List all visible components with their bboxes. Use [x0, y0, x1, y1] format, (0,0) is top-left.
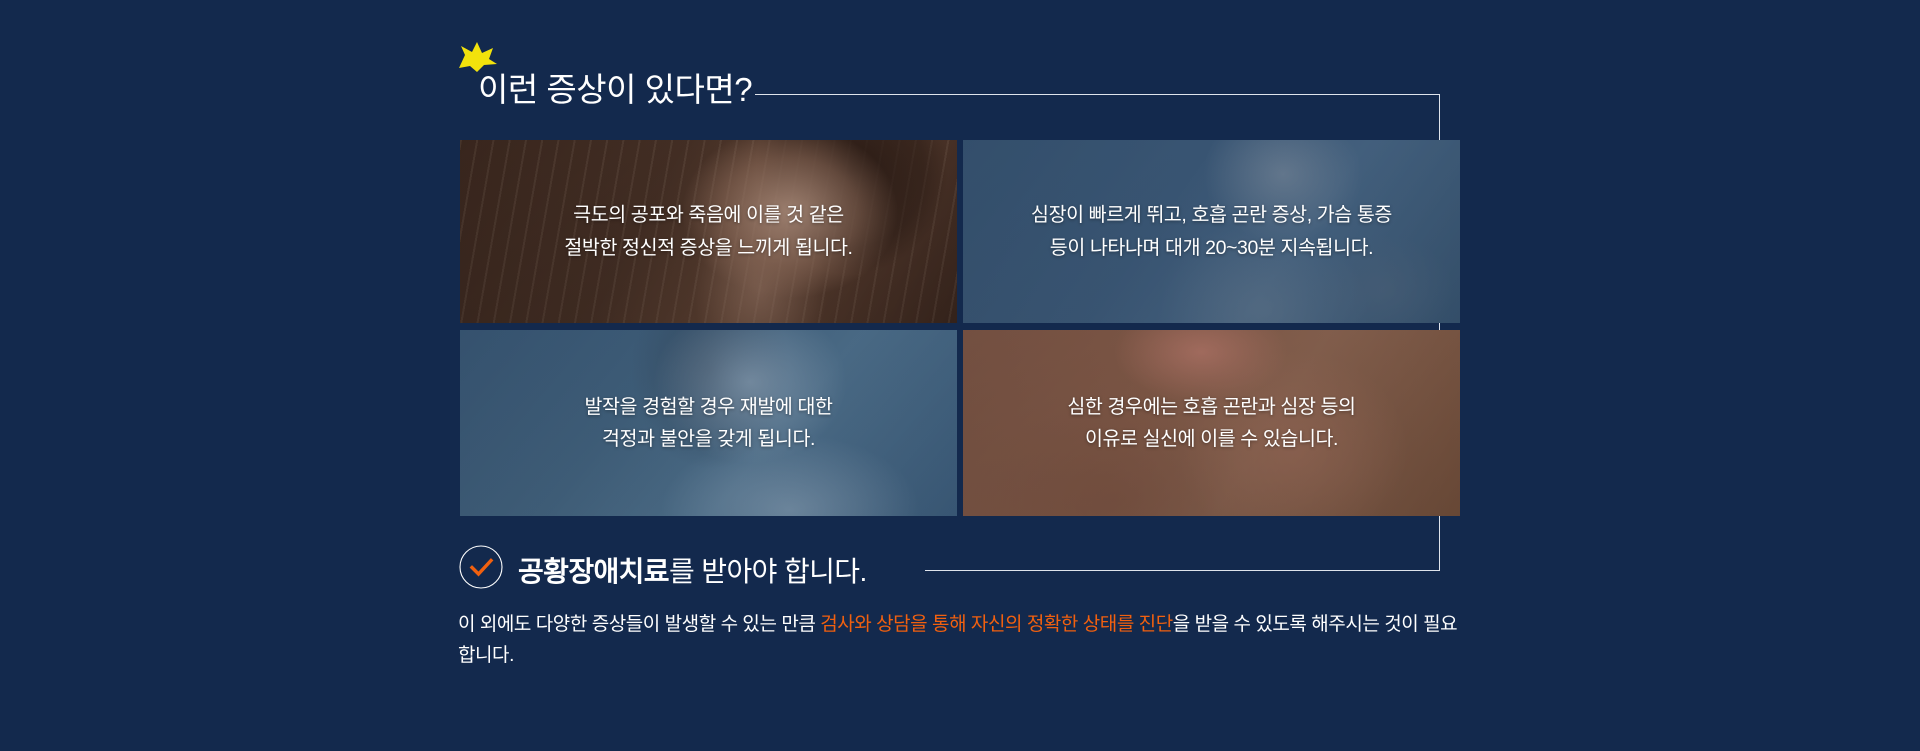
symptom-card-extreme-fear[interactable]: 극도의 공포와 죽음에 이를 것 같은 절박한 정신적 증상을 느끼게 됩니다.: [460, 140, 957, 323]
symptom-card-fainting[interactable]: 심한 경우에는 호흡 곤란과 심장 등의 이유로 실신에 이를 수 있습니다.: [963, 330, 1460, 516]
bracket-line-top: [755, 94, 1440, 95]
symptom-card-palpitations[interactable]: 심장이 빠르게 뛰고, 호흡 곤란 증상, 가슴 통증 등이 나타나며 대개 2…: [963, 140, 1460, 323]
check-circle-icon: [459, 545, 503, 589]
symptom-card-caption: 극도의 공포와 죽음에 이를 것 같은 절박한 정신적 증상을 느끼게 됩니다.: [564, 199, 852, 263]
promo-banner: 이런 증상이 있다면? 극도의 공포와 죽음에 이를 것 같은 절박한 정신적 …: [0, 0, 1920, 751]
symptom-card-caption: 심한 경우에는 호흡 곤란과 심장 등의 이유로 실신에 이를 수 있습니다.: [1067, 391, 1355, 455]
symptom-card-caption: 발작을 경험할 경우 재발에 대한 걱정과 불안을 갖게 됩니다.: [584, 391, 832, 455]
symptom-card-relapse-anxiety[interactable]: 발작을 경험할 경우 재발에 대한 걱정과 불안을 갖게 됩니다.: [460, 330, 957, 516]
conclusion-title-strong: 공황장애치료: [518, 556, 669, 587]
conclusion-title-rest: 를 받아야 합니다.: [669, 556, 867, 587]
body-lead: 이 외에도 다양한 증상들이 발생할 수 있는 만큼: [458, 614, 820, 635]
page-title: 이런 증상이 있다면?: [478, 63, 752, 111]
symptom-card-grid: 극도의 공포와 죽음에 이를 것 같은 절박한 정신적 증상을 느끼게 됩니다.…: [460, 140, 1460, 516]
conclusion-body: 이 외에도 다양한 증상들이 발생할 수 있는 만큼 검사와 상담을 통해 자신…: [458, 610, 1468, 672]
conclusion-title: 공황장애치료를 받아야 합니다.: [518, 550, 867, 590]
body-highlight: 검사와 상담을 통해 자신의 정확한 상태를 진단: [820, 614, 1173, 635]
symptom-card-caption: 심장이 빠르게 뛰고, 호흡 곤란 증상, 가슴 통증 등이 나타나며 대개 2…: [1031, 199, 1392, 263]
bracket-line-bottom: [925, 570, 1440, 571]
